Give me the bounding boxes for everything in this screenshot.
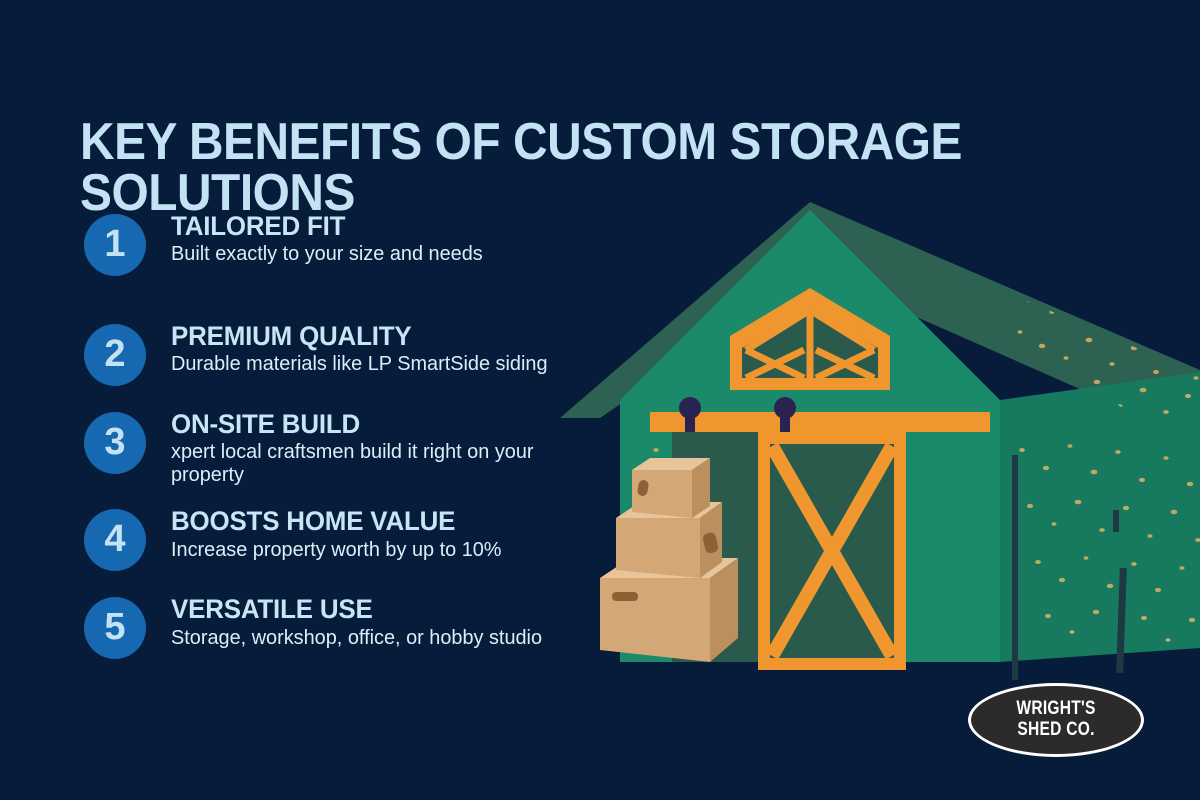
shed-illustration: [560, 150, 1200, 710]
logo-line-2: SHED CO.: [1017, 720, 1094, 741]
benefit-number-badge-5: 5: [84, 597, 146, 659]
benefit-heading-2: PREMIUM QUALITY: [171, 322, 587, 350]
benefit-description-4: Increase property worth by up to 10%: [171, 539, 591, 562]
benefits-list: 1 TAILORED FIT Built exactly to your siz…: [84, 212, 604, 663]
benefit-description-1: Built exactly to your size and needs: [171, 243, 591, 266]
logo-line-1: WRIGHT'S: [1016, 699, 1095, 720]
benefit-heading-1: TAILORED FIT: [171, 212, 587, 240]
benefit-item-3: 3 ON-SITE BUILD xpert local craftsmen bu…: [84, 410, 604, 487]
benefit-text-4: BOOSTS HOME VALUE Increase property wort…: [171, 507, 604, 561]
benefit-text-1: TAILORED FIT Built exactly to your size …: [171, 212, 604, 266]
benefit-heading-5: VERSATILE USE: [171, 595, 587, 623]
door-rail: [650, 412, 990, 432]
benefit-item-2: 2 PREMIUM QUALITY Durable materials like…: [84, 322, 604, 390]
benefit-heading-3: ON-SITE BUILD: [171, 410, 587, 438]
benefit-description-2: Durable materials like LP SmartSide sidi…: [171, 353, 591, 376]
benefit-number-badge-4: 4: [84, 509, 146, 571]
infographic-canvas: KEY BENEFITS OF CUSTOM STORAGE SOLUTIONS…: [0, 0, 1200, 800]
benefit-item-5: 5 VERSATILE USE Storage, workshop, offic…: [84, 595, 604, 663]
benefit-number-badge-2: 2: [84, 324, 146, 386]
benefit-number-badge-3: 3: [84, 412, 146, 474]
benefit-description-5: Storage, workshop, office, or hobby stud…: [171, 627, 591, 650]
sliding-barn-door: [758, 432, 906, 670]
benefit-text-3: ON-SITE BUILD xpert local craftsmen buil…: [171, 410, 604, 487]
brand-logo: WRIGHT'S SHED CO.: [968, 683, 1144, 757]
benefit-item-1: 1 TAILORED FIT Built exactly to your siz…: [84, 212, 604, 280]
shed-side-wall: [1000, 372, 1200, 662]
benefit-text-5: VERSATILE USE Storage, workshop, office,…: [171, 595, 604, 649]
logo-text: WRIGHT'S SHED CO.: [984, 683, 1128, 757]
benefit-item-4: 4 BOOSTS HOME VALUE Increase property wo…: [84, 507, 604, 575]
benefit-number-badge-1: 1: [84, 214, 146, 276]
page-title: KEY BENEFITS OF CUSTOM STORAGE SOLUTIONS: [80, 117, 1055, 219]
benefit-heading-4: BOOSTS HOME VALUE: [171, 507, 587, 535]
benefit-description-3: xpert local craftsmen build it right on …: [171, 441, 591, 487]
benefit-text-2: PREMIUM QUALITY Durable materials like L…: [171, 322, 604, 376]
